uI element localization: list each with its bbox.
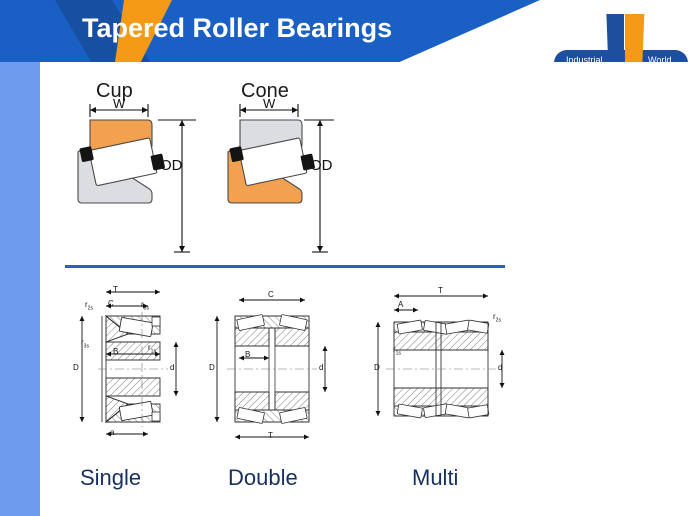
double-label-D: D [209, 363, 215, 372]
caption-single: Single [80, 465, 141, 491]
left-sidebar-strip [0, 62, 40, 516]
page-title: Tapered Roller Bearings [82, 13, 392, 44]
single-label-B: B [113, 347, 118, 356]
single-label-a: a [110, 428, 114, 437]
double-label-B: B [245, 350, 250, 359]
single-label-T: T [113, 285, 118, 294]
multi-label-T: T [438, 286, 443, 295]
cone-od-label: OD [310, 157, 333, 174]
double-label-T: T [268, 431, 273, 440]
multi-bearing-figure [368, 282, 513, 457]
single-label-C: C [108, 299, 114, 308]
single-label-r2s: r2s [85, 300, 93, 312]
cup-width-label: W [113, 96, 125, 111]
single-label-d: d [170, 363, 174, 372]
multi-label-r1s: r1s [393, 345, 401, 357]
multi-label-A: A [398, 300, 403, 309]
cone-figure [212, 100, 422, 265]
section-divider [65, 265, 505, 268]
multi-label-d: d [498, 363, 502, 372]
single-label-D: D [73, 363, 79, 372]
cone-width-label: W [263, 96, 275, 111]
single-label-r1s: r1s [148, 343, 156, 355]
double-label-d: d [319, 363, 323, 372]
single-label-r3s-mid: r3s [81, 338, 89, 350]
double-label-C: C [268, 290, 274, 299]
caption-multi: Multi [412, 465, 458, 491]
multi-label-D: D [374, 363, 380, 372]
multi-label-r2s: r2s [493, 312, 501, 324]
caption-double: Double [228, 465, 298, 491]
cup-od-label: OD [160, 157, 183, 174]
single-label-r3s-top: r3s [141, 300, 149, 312]
